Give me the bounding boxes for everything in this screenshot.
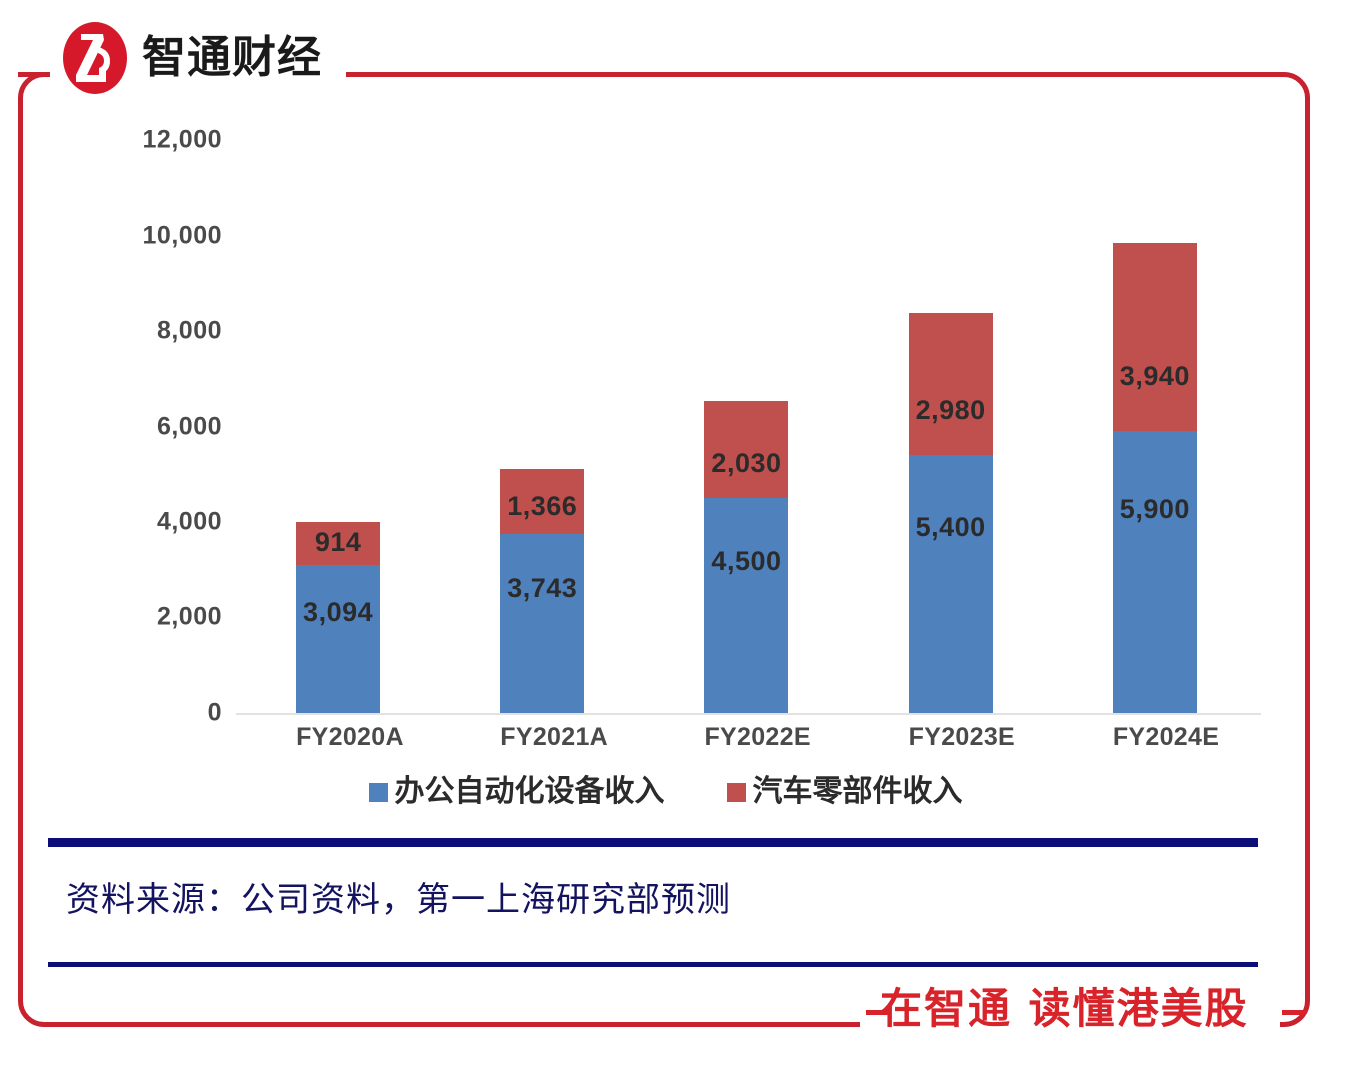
y-axis: 12,000 10,000 8,000 6,000 4,000 2,000 0 bbox=[104, 140, 222, 713]
bar-value-label: 3,743 bbox=[507, 575, 577, 602]
plot-area: 914 3,094 1,366 3,743 2,03 bbox=[236, 140, 1257, 713]
brand-rule-left bbox=[18, 72, 50, 77]
bar-value-label: 5,400 bbox=[916, 514, 986, 541]
bar-value-label: 914 bbox=[315, 529, 362, 556]
chart-legend: 办公自动化设备收入 汽车零部件收入 bbox=[48, 777, 1283, 807]
source-note: 资料来源：公司资料，第一上海研究部预测 bbox=[66, 872, 731, 921]
legend-item-office-automation[interactable]: 办公自动化设备收入 bbox=[369, 777, 665, 807]
bar-segment-auto-parts[interactable]: 2,030 bbox=[704, 401, 788, 498]
legend-swatch-blue-icon bbox=[369, 783, 388, 802]
x-axis-baseline bbox=[236, 713, 1261, 715]
divider-navy-thick bbox=[48, 838, 1258, 847]
bar-value-label: 1,366 bbox=[507, 493, 577, 520]
bar-segment-auto-parts[interactable]: 914 bbox=[296, 522, 380, 566]
y-tick-10000: 10,000 bbox=[112, 221, 222, 250]
bar-column-fy2023e[interactable]: 2,980 5,400 bbox=[909, 140, 993, 713]
bar-segment-office-automation[interactable]: 4,500 bbox=[704, 498, 788, 713]
bar-value-label: 2,030 bbox=[711, 450, 781, 477]
y-tick-12000: 12,000 bbox=[112, 126, 222, 155]
y-tick-8000: 8,000 bbox=[112, 316, 222, 345]
chart-page: 智通财经 12,000 10,000 8,000 6,000 4,000 2,0… bbox=[0, 0, 1355, 1077]
legend-item-auto-parts[interactable]: 汽车零部件收入 bbox=[727, 777, 963, 807]
bar-segment-office-automation[interactable]: 5,400 bbox=[909, 455, 993, 713]
brand-name: 智通财经 bbox=[142, 36, 322, 80]
bar-column-fy2022e[interactable]: 2,030 4,500 bbox=[704, 140, 788, 713]
x-tick-fy2024e: FY2024E bbox=[1113, 723, 1197, 752]
y-tick-6000: 6,000 bbox=[112, 412, 222, 441]
divider-navy-thin bbox=[48, 962, 1258, 967]
bar-value-label: 2,980 bbox=[916, 397, 986, 424]
bar-segment-auto-parts[interactable]: 1,366 bbox=[500, 469, 584, 534]
footer-dash-right bbox=[1282, 1010, 1306, 1015]
bar-segment-office-automation[interactable]: 5,900 bbox=[1113, 431, 1197, 713]
x-axis: FY2020A FY2021A FY2022E FY2023E FY2024E bbox=[236, 723, 1257, 767]
brand-header: 智通财经 bbox=[62, 22, 322, 94]
legend-label-auto-parts: 汽车零部件收入 bbox=[753, 777, 963, 807]
legend-label-office-automation: 办公自动化设备收入 bbox=[395, 777, 665, 807]
bar-group: 914 3,094 1,366 3,743 2,03 bbox=[236, 140, 1257, 713]
bar-value-label: 3,094 bbox=[303, 599, 373, 626]
x-tick-fy2022e: FY2022E bbox=[704, 723, 788, 752]
bar-segment-office-automation[interactable]: 3,743 bbox=[500, 534, 584, 713]
y-tick-4000: 4,000 bbox=[112, 508, 222, 537]
chart-container: 12,000 10,000 8,000 6,000 4,000 2,000 0 … bbox=[48, 105, 1283, 825]
x-tick-fy2020a: FY2020A bbox=[296, 723, 380, 752]
bar-value-label: 3,940 bbox=[1120, 363, 1190, 390]
bar-segment-office-automation[interactable]: 3,094 bbox=[296, 565, 380, 713]
x-tick-fy2023e: FY2023E bbox=[909, 723, 993, 752]
bar-column-fy2021a[interactable]: 1,366 3,743 bbox=[500, 140, 584, 713]
y-tick-0: 0 bbox=[112, 699, 222, 728]
y-tick-2000: 2,000 bbox=[112, 603, 222, 632]
bar-column-fy2024e[interactable]: 3,940 5,900 bbox=[1113, 140, 1197, 713]
bar-column-fy2020a[interactable]: 914 3,094 bbox=[296, 140, 380, 713]
bar-segment-auto-parts[interactable]: 3,940 bbox=[1113, 243, 1197, 431]
legend-swatch-red-icon bbox=[727, 783, 746, 802]
bar-value-label: 4,500 bbox=[711, 548, 781, 575]
brand-rule-right bbox=[346, 72, 646, 77]
zhitong-z-logo-icon bbox=[62, 21, 128, 95]
x-tick-fy2021a: FY2021A bbox=[500, 723, 584, 752]
footer-slogan: 在智通 读懂港美股 bbox=[880, 988, 1249, 1030]
bar-value-label: 5,900 bbox=[1120, 496, 1190, 523]
bar-segment-auto-parts[interactable]: 2,980 bbox=[909, 313, 993, 455]
